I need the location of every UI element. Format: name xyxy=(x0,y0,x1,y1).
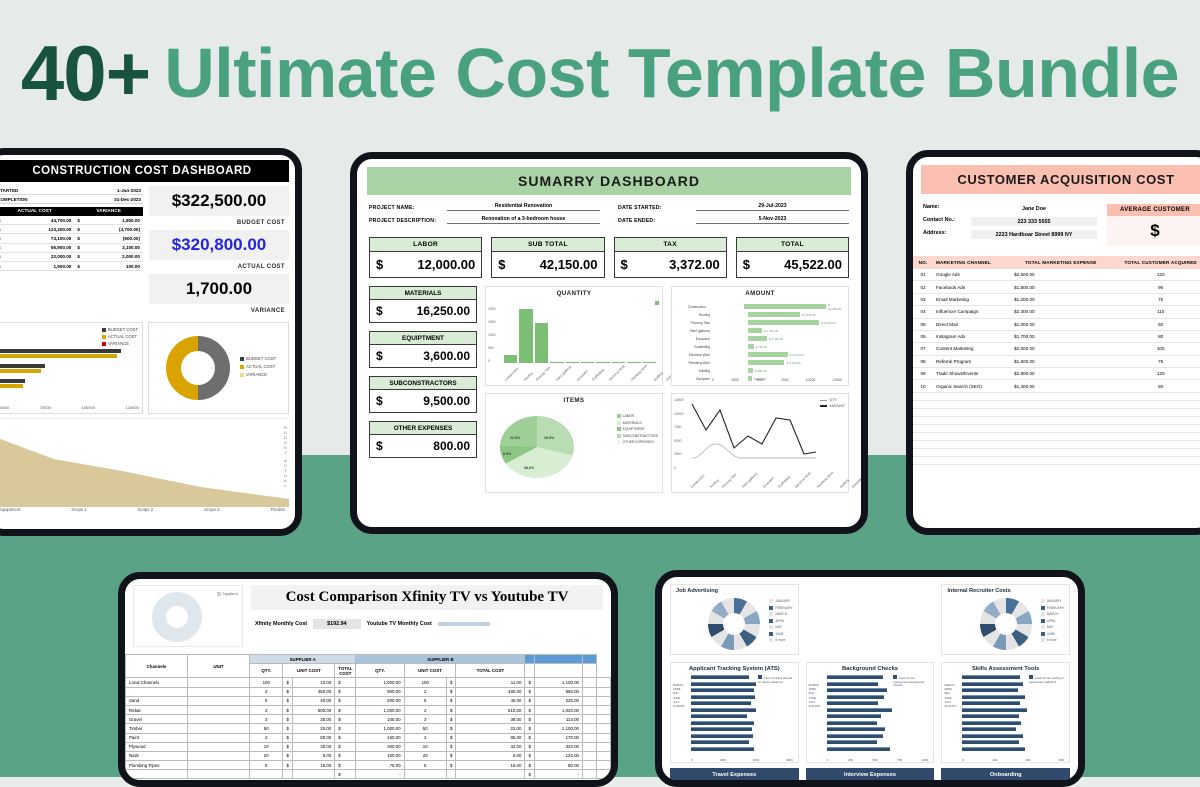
bar xyxy=(962,714,1018,718)
items-pie-chart[interactable]: ITEMS 28.5% 38.6% 8.5% 22.5% LABORMATERI… xyxy=(485,393,663,493)
field-value-date-started[interactable]: 29-Jul-2023 xyxy=(696,203,849,211)
currency-symbol: $ xyxy=(335,770,356,779)
summary-card[interactable]: TOTAL $45,522.00 xyxy=(736,237,849,278)
table-row[interactable]: Rebar 2 $ 500.00 $ 1,000.00 2 $ 510.00 $… xyxy=(126,705,611,714)
table-row[interactable]: $ 123,200.00 $ (4,700.00) xyxy=(0,225,143,234)
axis-tick: Excavator xyxy=(762,476,775,489)
expense-tile[interactable]: Onboarding 200015001000500 Expenses for … xyxy=(941,768,1070,787)
currency-symbol: $ xyxy=(283,761,292,770)
legend-label: MARCH xyxy=(775,612,787,616)
currency-symbol: $ xyxy=(335,678,356,687)
axis-tick: 2000 xyxy=(753,758,760,762)
card-value: $3,600.00 xyxy=(370,345,476,367)
table-row[interactable]: Plywood 10 $ 30.00 $ 300.00 10 $ 32.00 $… xyxy=(126,742,611,751)
bar xyxy=(691,682,756,686)
summary-card[interactable]: OTHER EXPENSES $800.00 xyxy=(369,421,477,458)
cell-actual-cost: 55,900.00 xyxy=(4,243,75,252)
table-row[interactable]: $ 1,900.00 $ 100.00 xyxy=(0,261,143,270)
bar-value: $ 600.00 xyxy=(755,369,767,373)
cell-actual-cost: 1,900.00 xyxy=(4,261,75,270)
card-title: Background Checks xyxy=(807,663,934,675)
table-row[interactable]: $ - $ - xyxy=(126,770,611,779)
legend-label: APRIL xyxy=(1047,619,1056,623)
expense-tile[interactable]: Interview Expenses 1000750500250 $ 750.0… xyxy=(806,768,935,787)
area-chart-x-axis: Equiptment Scope 1 Scope 2 Scope 3 Final… xyxy=(0,507,289,512)
construction-dashboard-panel[interactable]: CONSTRUCTION COST DASHBOARD STARTED1-Jun… xyxy=(0,148,302,536)
table-row-empty[interactable] xyxy=(913,416,1200,424)
table-row[interactable]: 06 Instagram Ads $1,700.00 80 xyxy=(913,330,1200,342)
recruiting-bar-charts[interactable]: Applicant Tracking System (ATS) MARCHAPR… xyxy=(662,655,1078,763)
cell-b-unit-cost: 45.00 xyxy=(456,696,525,705)
cell-channel: Sand xyxy=(126,696,188,705)
table-row[interactable]: 08 Referral Program $1,500.00 75 xyxy=(913,355,1200,367)
cell-b-total-cost: 170.00 xyxy=(534,733,582,742)
currency-symbol: $ xyxy=(525,715,534,724)
bar-group: MARCHAPRILMAYJUNEJULYAUGUST xyxy=(671,675,798,757)
field-value-project-name[interactable]: Residential Renovation xyxy=(447,203,600,211)
summary-dashboard-panel[interactable]: SUMARRY DASHBOARD PROJECT NAME:Residenti… xyxy=(350,152,868,534)
card-label: SUB TOTAL xyxy=(492,238,603,252)
cell-a-total-cost: 300.00 xyxy=(356,742,404,751)
y-axis-labels: MARCHAPRILMAYJUNEJULYAUGUST xyxy=(673,683,685,708)
legend-label-actual: ACTUAL xyxy=(284,458,287,488)
construction-cost-table[interactable]: ACTUAL COST VARIANCE $ 44,700.00 $ 1,800… xyxy=(0,207,143,271)
card-label: OTHER EXPENSES xyxy=(370,422,476,435)
field-value-date-ended[interactable]: 5-Nov-2023 xyxy=(696,216,849,224)
currency-symbol: $ xyxy=(283,733,292,742)
column-header-unit: UNIT xyxy=(188,655,250,678)
card-title: Job Advertising xyxy=(671,585,798,597)
cell-b-total-cost: - xyxy=(534,770,582,779)
card-title: Applicant Tracking System (ATS) xyxy=(671,663,798,675)
cell-b-qty: 3 xyxy=(404,715,446,724)
table-row-empty[interactable] xyxy=(913,456,1200,464)
bar-value: $ 4,600.00 xyxy=(786,361,800,365)
currency-symbol: $ xyxy=(525,733,534,742)
currency-symbol: $ xyxy=(283,696,292,705)
cell-a-total-cost: 1,000.00 xyxy=(356,678,404,687)
cell-a-qty: 50 xyxy=(250,724,283,733)
currency-symbol: $ xyxy=(74,216,83,225)
bar xyxy=(827,747,890,751)
youtube-cost-value[interactable] xyxy=(438,622,490,626)
axis-tick: 500 xyxy=(488,346,496,350)
supplier-comparison-table[interactable]: Channels UNIT SUPPLIER A SUPPLIER B QTY.… xyxy=(125,654,611,779)
cell-no: 05 xyxy=(913,318,933,330)
field-value-project-description[interactable]: Renovation of a 3-bedroom house xyxy=(447,216,600,224)
axis-tick: Building xyxy=(653,371,664,382)
currency-symbol: $ xyxy=(525,724,534,733)
bar xyxy=(550,362,563,363)
table-row[interactable]: 10 Organic Search (SEO) $1,400.00 60 xyxy=(913,380,1200,392)
summary-meta-left: PROJECT NAME:Residential Renovation PROJ… xyxy=(369,203,600,229)
qty-amount-line-chart[interactable]: 12500 10000 7500 5000 2500 0 QTY AMOUNT xyxy=(671,393,849,493)
bar xyxy=(748,320,819,325)
column-header-no: NO. xyxy=(913,256,933,269)
currency-symbol: $ xyxy=(335,715,356,724)
cell-b-qty: 50 xyxy=(404,724,446,733)
summary-card[interactable]: SUB TOTAL $42,150.00 xyxy=(491,237,604,278)
expense-tiles[interactable]: Travel Expenses 12501000750500250 $ 900.… xyxy=(662,763,1078,787)
cell-b-qty: 2 xyxy=(404,733,446,742)
cell-customers: 110 xyxy=(1110,306,1200,318)
field-label: Name: xyxy=(923,204,971,213)
legend-label: LABOR xyxy=(623,414,635,418)
tile-value-2: $ 900.00 xyxy=(738,783,751,787)
column-header-supplier-b: SUPPLIER B xyxy=(356,655,525,664)
bar xyxy=(691,721,754,725)
expense-tile[interactable]: Travel Expenses 12501000750500250 $ 900.… xyxy=(670,768,799,787)
cell-a-total-cost: 200.00 xyxy=(356,696,404,705)
axis-tick: Flooring Tiles xyxy=(535,366,551,382)
bar xyxy=(827,708,892,712)
field-value-address[interactable]: 2223 Hardboar Street 8999 NY xyxy=(971,230,1097,239)
table-row[interactable]: 01 Google Ads $2,500.00 120 xyxy=(913,269,1200,281)
quantity-bar-chart[interactable]: QUANTITY 2000 1500 1000 500 0 Constructi… xyxy=(485,286,663,386)
cell-b-unit-cost: 510.00 xyxy=(456,705,525,714)
cell-unit xyxy=(188,678,250,687)
tile-note: Any cost related to conducting interview… xyxy=(901,782,931,787)
x-axis: 0100020003000 xyxy=(671,757,798,762)
table-row[interactable]: 09 Trade Shows/Events $2,800.00 120 xyxy=(913,368,1200,380)
cell-a-unit-cost: 80.00 xyxy=(292,733,334,742)
field-value-name[interactable]: Jane Doe xyxy=(971,204,1097,213)
card-label: TAX xyxy=(615,238,726,252)
job-advertising-donut-card[interactable]: Job Advertising JANUARYFEBRUARYMARCHAPRI… xyxy=(670,584,799,655)
legend-label: JUNE xyxy=(1047,632,1055,636)
cell-b-qty xyxy=(404,770,446,779)
customer-acquisition-cost-panel[interactable]: CUSTOMER ACQUISITION COST Name:Jane Doe … xyxy=(906,150,1200,535)
bar xyxy=(962,747,1025,751)
column-header-expense: TOTAL MARKETING EXPENSE xyxy=(1011,256,1110,269)
amount-bar-chart[interactable]: AMOUNT Construction $ 11,800.00 Roofing … xyxy=(671,286,849,386)
card-label: MATERIALS xyxy=(370,287,476,300)
chart-title: AMOUNT xyxy=(675,290,845,297)
donut-legend: JANUARYFEBRUARYMARCHAPRILMAYJUNE6 more xyxy=(769,599,792,645)
axis-tick: 5000 xyxy=(756,378,764,382)
axis-tick: Roofing xyxy=(674,313,710,317)
donut-graphic xyxy=(708,598,760,650)
table-row[interactable]: $ 44,700.00 $ 1,800.00 xyxy=(0,216,143,225)
bar-row: Plumbing Work $ 4,600.00 xyxy=(712,359,842,366)
axis-tick: 400 xyxy=(1026,758,1031,762)
summary-card[interactable]: LABOR $12,000.00 xyxy=(369,237,482,278)
hr-bar-chart-card[interactable]: Applicant Tracking System (ATS) MARCHAPR… xyxy=(670,662,799,763)
cell-expense: $2,300.00 xyxy=(1011,306,1110,318)
cell-a-qty: 100 xyxy=(250,678,283,687)
bar xyxy=(691,740,749,744)
bar xyxy=(504,355,517,363)
currency-symbol: $ xyxy=(446,687,455,696)
legend-label: APRIL xyxy=(775,619,784,623)
legend-label: ACTUAL COST xyxy=(108,334,137,339)
axis-tick: Construction xyxy=(504,366,519,381)
bar xyxy=(691,714,747,718)
legend-label: BUDGET COST xyxy=(246,356,276,361)
currency-symbol: $ xyxy=(335,724,356,733)
cell-b-qty: 100 xyxy=(404,678,446,687)
currency-symbol: $ xyxy=(74,225,83,234)
cell-a-qty: 10 xyxy=(250,742,283,751)
currency-symbol: $ xyxy=(283,687,292,696)
bar xyxy=(581,362,594,363)
bar xyxy=(827,714,881,718)
axis-tick: Plumbing Work xyxy=(630,364,648,382)
legend-label: Supplier A xyxy=(223,592,238,596)
legend-label: 6 more xyxy=(775,638,785,642)
legend-label: FEBRUARY xyxy=(775,606,792,610)
table-row[interactable]: 2 $ 450.00 $ 900.00 2 $ 480.00 $ 960.00 xyxy=(126,687,611,696)
cell-customers: 75 xyxy=(1110,355,1200,367)
xfinity-cost-value[interactable]: $192.94 xyxy=(313,619,361,629)
axis-tick: Flooring Tiles xyxy=(674,321,710,325)
recruiting-cost-panel[interactable]: Job Advertising JANUARYFEBRUARYMARCHAPRI… xyxy=(655,570,1085,787)
currency-symbol: $ xyxy=(335,696,356,705)
axis-tick: 500 xyxy=(872,758,877,762)
summary-card[interactable]: TAX $3,372.00 xyxy=(614,237,727,278)
table-row[interactable]: 02 Facebook Ads $1,800.00 90 xyxy=(913,281,1200,293)
internal-recruiter-donut-card[interactable]: Internal Recruiter Costs JANUARYFEBRUARY… xyxy=(941,584,1070,655)
table-row[interactable]: Timber 50 $ 20.00 $ 1,000.00 50 $ 22.00 … xyxy=(126,724,611,733)
line-y-axis: 12500 10000 7500 5000 2500 0 xyxy=(674,398,683,470)
legend-label-budget: BUDGET xyxy=(284,425,287,455)
bar xyxy=(691,675,749,679)
axis-tick: 2000 xyxy=(488,307,496,311)
axis-tick: 50000 xyxy=(0,405,9,410)
cell-channel: Content Marketing xyxy=(933,343,1011,355)
date-value: 1-Jun-2023 xyxy=(117,188,141,193)
cell-customers: 80 xyxy=(1110,330,1200,342)
field-label: PROJECT DESCRIPTION: xyxy=(369,218,447,224)
cell-b-unit-cost: 38.00 xyxy=(456,715,525,724)
table-row[interactable]: Gravel 3 $ 35.00 $ 105.00 3 $ 38.00 $ 11… xyxy=(126,715,611,724)
bar-row: Paint (gallons) $ 1,750.00 xyxy=(712,327,842,334)
donut-legend: JANUARYFEBRUARYMARCHAPRILMAYJUNE6 more xyxy=(1041,599,1064,645)
axis-tick: 1000 xyxy=(488,333,496,337)
bar xyxy=(691,734,753,738)
table-row-empty[interactable] xyxy=(913,408,1200,416)
axis-tick: Dumpster xyxy=(851,476,864,489)
bar xyxy=(748,344,754,349)
table-row[interactable]: 07 Content Marketing $2,000.00 100 xyxy=(913,343,1200,355)
legend-label: MAY xyxy=(775,625,782,629)
table-row[interactable]: Sand 5 $ 40.00 $ 200.00 5 $ 45.00 $ 225.… xyxy=(126,696,611,705)
axis-tick: 3000 xyxy=(786,758,793,762)
table-row-empty[interactable] xyxy=(913,424,1200,432)
cell-b-qty: 2 xyxy=(404,705,446,714)
bar xyxy=(962,740,1018,744)
table-row[interactable]: Paint 2 $ 80.00 $ 160.00 2 $ 85.00 $ 170… xyxy=(126,733,611,742)
bar xyxy=(566,362,579,363)
cell-b-unit-cost: 480.00 xyxy=(456,687,525,696)
xfinity-label: Xfinity Monthly Cost xyxy=(255,621,307,627)
bar xyxy=(691,708,756,712)
y-axis-labels: MARCHAPRILMAYJUNEJULYAUGUST xyxy=(944,683,956,708)
table-row-empty[interactable] xyxy=(913,400,1200,408)
axis-tick: Equiptment xyxy=(0,507,20,512)
cell-unit xyxy=(188,705,250,714)
bar xyxy=(691,727,752,731)
summary-card[interactable]: EQUIPTMENT $3,600.00 xyxy=(369,331,477,368)
amount-x-axis: 02500500075001000012500 xyxy=(712,378,842,382)
legend-label: ACTUAL COST xyxy=(246,364,275,369)
bar xyxy=(535,323,548,364)
table-row-empty[interactable] xyxy=(913,392,1200,400)
cell-customers: 50 xyxy=(1110,318,1200,330)
cell-b-total-cost: 1,100.00 xyxy=(534,678,582,687)
card-value: $3,372.00 xyxy=(615,252,726,277)
cell-channel: Plumbing Pipes xyxy=(126,761,188,770)
axis-tick: 200 xyxy=(992,758,997,762)
table-row[interactable]: $ 55,900.00 $ 3,100.00 xyxy=(0,243,143,252)
hr-bar-chart-card[interactable]: Background Checks MARCHAPRILMAYJUNEJULYA… xyxy=(806,662,935,763)
kpi-budget-cost: $322,500.00 xyxy=(149,186,289,216)
bar xyxy=(962,727,1016,731)
kpi-label: VARIANCE xyxy=(149,307,289,318)
table-row-empty[interactable] xyxy=(913,440,1200,448)
cell-expense: $1,500.00 xyxy=(1011,355,1110,367)
axis-tick: Scaffolding xyxy=(591,368,605,382)
currency-symbol: $ xyxy=(335,751,356,760)
axis-tick: Scaffolding xyxy=(777,475,791,489)
axis-tick: 75000 xyxy=(40,405,51,410)
cell-expense: $2,500.00 xyxy=(1011,269,1110,281)
cell-a-unit-cost: 30.00 xyxy=(292,742,334,751)
bar xyxy=(827,727,886,731)
bar-chart-legend: BUDGET COST ACTUAL COST VARIANCE xyxy=(102,327,138,348)
axis-tick: Excavator xyxy=(576,369,589,382)
currency-symbol: $ xyxy=(283,751,292,760)
tile-note: Expenses for new hire orientation and tr… xyxy=(1037,782,1067,787)
title-text: Ultimate Cost Template Bundle xyxy=(164,38,1179,108)
cell-b-qty: 10 xyxy=(404,742,446,751)
cell-actual-cost: 73,100.00 xyxy=(4,234,75,243)
table-row[interactable]: Local Channels 100 $ 10.00 $ 1,000.00 10… xyxy=(126,678,611,687)
axis-tick: 600 xyxy=(1059,758,1064,762)
marketing-channel-table[interactable]: NO. MARKETING CHANNEL TOTAL MARKETING EX… xyxy=(913,256,1200,465)
table-row[interactable]: 04 Influencer Campaign $2,300.00 110 xyxy=(913,306,1200,318)
bar xyxy=(962,695,1025,699)
cell-channel: Trade Shows/Events xyxy=(933,368,1011,380)
axis-tick: 10000 xyxy=(806,378,815,382)
cell-customers: 120 xyxy=(1110,368,1200,380)
bar xyxy=(962,688,1018,692)
cell-no: 01 xyxy=(913,269,933,281)
quantity-bars xyxy=(504,309,656,363)
bar-value: $ 2,400.00 xyxy=(769,337,783,341)
line-chart-svg xyxy=(690,400,820,466)
column-header-channel: MARKETING CHANNEL xyxy=(933,256,1011,269)
summary-meta-right: DATE STARTED:29-Jul-2023 DATE ENDED:5-No… xyxy=(618,203,849,229)
column-header-b-unit-cost: UNIT COST xyxy=(404,664,456,678)
bar xyxy=(627,362,640,363)
table-row[interactable]: Plumbing Pipes 5 $ 15.00 $ 75.00 5 $ 16.… xyxy=(126,761,611,770)
summary-title: SUMARRY DASHBOARD xyxy=(367,167,851,195)
cell-a-unit-cost: 5.00 xyxy=(292,751,334,760)
summary-card[interactable]: SUBCONSTRACTORS $9,500.00 xyxy=(369,376,477,413)
summary-card[interactable]: MATERIALS $16,250.00 xyxy=(369,286,477,323)
table-row[interactable]: $ 73,100.00 $ (600.00) xyxy=(0,234,143,243)
comparison-title: Cost Comparison Xfinity TV vs Youtube TV xyxy=(251,585,603,610)
axis-tick: 1500 xyxy=(488,320,496,324)
cell-variance: (600.00) xyxy=(83,234,143,243)
bar-value: $ 6,500.00 xyxy=(802,313,816,317)
axis-tick: Electrical Work xyxy=(794,471,812,489)
field-value-contact[interactable]: 223 333 5555 xyxy=(971,217,1097,226)
cell-a-total-cost: 900.00 xyxy=(356,687,404,696)
cell-a-unit-cost xyxy=(292,770,334,779)
bar-value: $ 700.00 xyxy=(756,345,768,349)
cell-a-total-cost: 1,000.00 xyxy=(356,705,404,714)
cell-expense: $1,000.00 xyxy=(1011,318,1110,330)
axis-tick: Paint (gallons) xyxy=(555,365,572,382)
table-row[interactable]: 05 Direct Mail $1,000.00 50 xyxy=(913,318,1200,330)
bar-row: Roofing $ 6,500.00 xyxy=(712,311,842,318)
donut-graphic xyxy=(152,592,202,642)
pie-slice-label: 38.6% xyxy=(524,466,534,470)
budget-variance-bar-chart[interactable]: BUDGET COST ACTUAL COST VARIANCE 50000 7… xyxy=(0,322,143,414)
table-row[interactable]: 03 Email Marketing $1,200.00 70 xyxy=(913,293,1200,305)
table-row-empty[interactable] xyxy=(913,448,1200,456)
average-customer-cost-card: AVERAGE CUSTOMER $ xyxy=(1107,204,1200,246)
column-header-variance: VARIANCE xyxy=(74,207,143,216)
column-header-b-qty: QTY. xyxy=(356,664,404,678)
cell-channel: Referral Program xyxy=(933,355,1011,367)
axis-tick: Building xyxy=(674,369,710,373)
table-row[interactable]: Nails 20 $ 5.00 $ 100.00 20 $ 6.00 $ 120… xyxy=(126,751,611,760)
cell-unit xyxy=(188,742,250,751)
axis-tick: 250 xyxy=(848,758,853,762)
tile-value: $ 750.00 xyxy=(828,783,841,787)
cell-b-unit-cost: 85.00 xyxy=(456,733,525,742)
cell-a-qty: 3 xyxy=(250,715,283,724)
cell-channel xyxy=(126,770,188,779)
cell-customers: 70 xyxy=(1110,293,1200,305)
currency-symbol: $ xyxy=(283,742,292,751)
cell-a-qty: 2 xyxy=(250,733,283,742)
cell-b-total-cost: 114.00 xyxy=(534,715,582,724)
table-row[interactable]: $ 22,000.00 $ 2,000.00 xyxy=(0,252,143,261)
table-row-empty[interactable] xyxy=(913,432,1200,440)
cell-a-qty: 5 xyxy=(250,696,283,705)
budget-donut-chart[interactable]: BUDGET COST ACTUAL COST VARIANCE xyxy=(148,322,289,414)
cost-progression-area-chart[interactable]: Equiptment Scope 1 Scope 2 Scope 3 Final… xyxy=(0,418,289,528)
cell-unit xyxy=(188,696,250,705)
cost-comparison-panel[interactable]: Supplier A Cost Comparison Xfinity TV vs… xyxy=(118,572,618,787)
axis-tick: Construction xyxy=(690,473,705,488)
cell-no: 04 xyxy=(913,306,933,318)
supplier-donut-chart[interactable]: Supplier A xyxy=(133,585,243,647)
tile-title: Onboarding xyxy=(941,768,1070,780)
chart-note: Cost of posting job ads on various platf… xyxy=(758,675,794,684)
cell-channel xyxy=(126,687,188,696)
cell-b-unit-cost: 32.00 xyxy=(456,742,525,751)
cell-b-total-cost: 80.00 xyxy=(534,761,582,770)
hr-bar-chart-card[interactable]: Skills Assessment Tools MARCHAPRILMAYJUN… xyxy=(941,662,1070,763)
column-header-a-total-cost: TOTAL COST xyxy=(335,664,356,678)
axis-tick: Construction xyxy=(674,305,706,309)
bar-chart-bars xyxy=(0,349,121,392)
cell-channel: Gravel xyxy=(126,715,188,724)
bar xyxy=(827,695,885,699)
cell-b-unit-cost: 6.00 xyxy=(456,751,525,760)
currency-symbol: $ xyxy=(335,705,356,714)
cell-variance: (4,700.00) xyxy=(83,225,143,234)
bar-row: Flooring Tiles $ 9,000.00 xyxy=(712,319,842,326)
legend-label: MAY xyxy=(1047,625,1054,629)
axis-tick: Electrical Work xyxy=(674,353,710,357)
cell-a-qty xyxy=(250,770,283,779)
